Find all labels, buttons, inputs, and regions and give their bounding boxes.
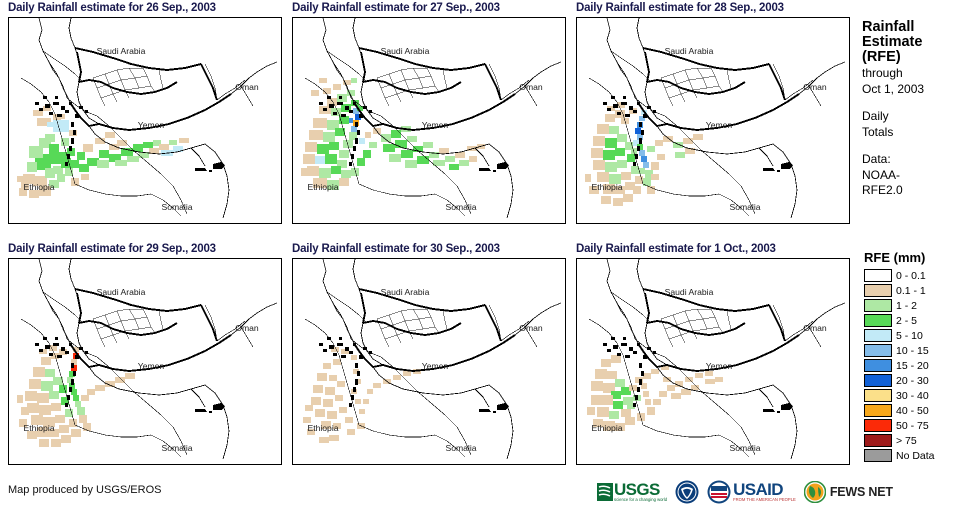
legend-swatch	[864, 419, 892, 432]
panel-title: Daily Rainfall estimate for 28 Sep., 200…	[576, 2, 784, 14]
map-canvas: Saudi ArabiaOmanYemenEthiopiaSomalia	[9, 259, 281, 464]
svg-text:Somalia: Somalia	[161, 202, 192, 212]
map-frame[interactable]: Saudi ArabiaOmanYemenEthiopiaSomalia	[8, 258, 282, 465]
legend-rows: 0 - 0.10.1 - 11 - 22 - 55 - 1010 - 1515 …	[862, 268, 965, 463]
info-totals-line1: Daily	[862, 109, 965, 124]
usaid-logo[interactable]: USAID FROM THE AMERICAN PEOPLE	[707, 479, 796, 505]
legend-label: 0 - 0.1	[896, 270, 926, 282]
legend-row: 0 - 0.1	[862, 268, 965, 283]
map-frame[interactable]: Saudi ArabiaOmanYemenEthiopiaSomalia	[576, 17, 850, 224]
svg-text:Oman: Oman	[803, 82, 827, 92]
map-canvas: Saudi ArabiaOmanYemenEthiopiaSomalia	[577, 259, 849, 464]
info-title-line1: Rainfall	[862, 19, 914, 35]
legend-swatch	[864, 449, 892, 462]
svg-text:Saudi Arabia: Saudi Arabia	[97, 46, 146, 56]
map-frame[interactable]: Saudi ArabiaOmanYemenEthiopiaSomalia	[576, 258, 850, 465]
legend-row: 15 - 20	[862, 358, 965, 373]
svg-text:Ethiopia: Ethiopia	[591, 423, 622, 433]
svg-text:Saudi Arabia: Saudi Arabia	[381, 46, 430, 56]
legend-label: 50 - 75	[896, 420, 929, 432]
info-through-date: Oct 1, 2003	[862, 82, 965, 97]
legend-swatch	[864, 374, 892, 387]
svg-text:Somalia: Somalia	[161, 443, 192, 453]
svg-text:Saudi Arabia: Saudi Arabia	[665, 287, 714, 297]
svg-text:Yemen: Yemen	[706, 120, 733, 130]
svg-text:Ethiopia: Ethiopia	[307, 423, 338, 433]
svg-text:Oman: Oman	[519, 323, 543, 333]
legend-label: 30 - 40	[896, 390, 929, 402]
legend-row: 5 - 10	[862, 328, 965, 343]
usgs-mark-icon	[597, 483, 613, 501]
info-data-line1: Data:	[862, 152, 965, 167]
svg-text:Yemen: Yemen	[422, 120, 449, 130]
usaid-seal-icon	[707, 480, 731, 504]
info-title-line2: Estimate	[862, 34, 922, 50]
map-canvas: Saudi ArabiaOmanYemenEthiopiaSomalia	[577, 18, 849, 223]
svg-text:Ethiopia: Ethiopia	[23, 423, 54, 433]
usgs-logo[interactable]: USGS science for a changing world	[597, 479, 667, 505]
legend-swatch	[864, 359, 892, 372]
panel-title: Daily Rainfall estimate for 27 Sep., 200…	[292, 2, 500, 14]
usaid-tagline: FROM THE AMERICAN PEOPLE	[733, 497, 796, 502]
legend-swatch	[864, 434, 892, 447]
legend-row: > 75	[862, 433, 965, 448]
svg-text:Somalia: Somalia	[445, 202, 476, 212]
legend-swatch	[864, 299, 892, 312]
legend-row: 2 - 5	[862, 313, 965, 328]
legend-label: 10 - 15	[896, 345, 929, 357]
rainfall-raster	[587, 355, 723, 431]
svg-text:Saudi Arabia: Saudi Arabia	[665, 46, 714, 56]
svg-text:Somalia: Somalia	[729, 202, 760, 212]
legend-row: 1 - 2	[862, 298, 965, 313]
map-frame[interactable]: Saudi ArabiaOmanYemenEthiopiaSomalia	[292, 17, 566, 224]
panel-title: Daily Rainfall estimate for 29 Sep., 200…	[8, 243, 216, 255]
usgs-wordmark: USGS	[614, 482, 667, 497]
svg-text:Ethiopia: Ethiopia	[23, 182, 54, 192]
info-through-label: through	[862, 66, 965, 81]
legend-swatch	[864, 404, 892, 417]
map-canvas: Saudi ArabiaOmanYemenEthiopiaSomalia	[293, 259, 565, 464]
legend-label: 5 - 10	[896, 330, 923, 342]
fewsnet-logo[interactable]: FEWS NET	[804, 479, 893, 505]
svg-text:Somalia: Somalia	[729, 443, 760, 453]
map-frame[interactable]: Saudi ArabiaOmanYemenEthiopiaSomalia	[292, 258, 566, 465]
svg-text:Yemen: Yemen	[706, 361, 733, 371]
legend-row: 50 - 75	[862, 418, 965, 433]
info-totals-line2: Totals	[862, 125, 965, 140]
legend-label: 0.1 - 1	[896, 285, 926, 297]
legend-label: 1 - 2	[896, 300, 917, 312]
svg-text:Saudi Arabia: Saudi Arabia	[381, 287, 430, 297]
map-credit: Map produced by USGS/EROS	[8, 484, 161, 496]
map-frame[interactable]: Saudi ArabiaOmanYemenEthiopiaSomalia	[8, 17, 282, 224]
legend-row: 20 - 30	[862, 373, 965, 388]
usgs-tagline: science for a changing world	[614, 497, 667, 502]
legend-label: 2 - 5	[896, 315, 917, 327]
noaa-seal-icon	[675, 480, 699, 504]
terrain-mask	[319, 337, 372, 407]
legend-swatch	[864, 269, 892, 282]
legend-label: 40 - 50	[896, 405, 929, 417]
rainfall-raster	[301, 78, 485, 190]
svg-text:Ethiopia: Ethiopia	[307, 182, 338, 192]
panel-title: Daily Rainfall estimate for 30 Sep., 200…	[292, 243, 500, 255]
panel-title: Daily Rainfall estimate for 1 Oct., 2003	[576, 243, 776, 255]
legend-title: RFE (mm)	[864, 250, 965, 265]
svg-text:Somalia: Somalia	[445, 443, 476, 453]
svg-text:Oman: Oman	[803, 323, 827, 333]
legend-swatch	[864, 389, 892, 402]
legend-label: 15 - 20	[896, 360, 929, 372]
svg-text:Yemen: Yemen	[422, 361, 449, 371]
svg-text:Ethiopia: Ethiopia	[591, 182, 622, 192]
logo-strip: USGS science for a changing world USAID …	[597, 478, 893, 506]
legend-row: 10 - 15	[862, 343, 965, 358]
fewsnet-globe-icon	[804, 481, 826, 503]
map-canvas: Saudi ArabiaOmanYemenEthiopiaSomalia	[293, 18, 565, 223]
legend: RFE (mm) 0 - 0.10.1 - 11 - 22 - 55 - 101…	[862, 250, 965, 463]
legend-row: 30 - 40	[862, 388, 965, 403]
svg-text:Oman: Oman	[519, 82, 543, 92]
info-data-line3: RFE2.0	[862, 183, 965, 198]
legend-label: No Data	[896, 450, 935, 462]
svg-text:Yemen: Yemen	[138, 120, 165, 130]
svg-text:Saudi Arabia: Saudi Arabia	[97, 287, 146, 297]
legend-row: 40 - 50	[862, 403, 965, 418]
info-panel: Rainfall Estimate (RFE) through Oct 1, 2…	[862, 20, 965, 198]
legend-row: No Data	[862, 448, 965, 463]
legend-label: > 75	[896, 435, 917, 447]
legend-swatch	[864, 314, 892, 327]
fewsnet-wordmark: FEWS NET	[830, 485, 893, 499]
panel-title: Daily Rainfall estimate for 26 Sep., 200…	[8, 2, 216, 14]
legend-swatch	[864, 329, 892, 342]
noaa-logo[interactable]	[675, 479, 699, 505]
svg-text:Yemen: Yemen	[138, 361, 165, 371]
map-canvas: Saudi ArabiaOmanYemenEthiopiaSomalia	[9, 18, 281, 223]
info-title: Rainfall Estimate (RFE)	[862, 20, 965, 65]
info-title-line3: (RFE)	[862, 49, 901, 65]
svg-text:Oman: Oman	[235, 82, 259, 92]
legend-swatch	[864, 344, 892, 357]
legend-label: 20 - 30	[896, 375, 929, 387]
usaid-wordmark: USAID	[733, 482, 796, 497]
legend-row: 0.1 - 1	[862, 283, 965, 298]
legend-swatch	[864, 284, 892, 297]
svg-text:Oman: Oman	[235, 323, 259, 333]
info-data-line2: NOAA-	[862, 168, 965, 183]
